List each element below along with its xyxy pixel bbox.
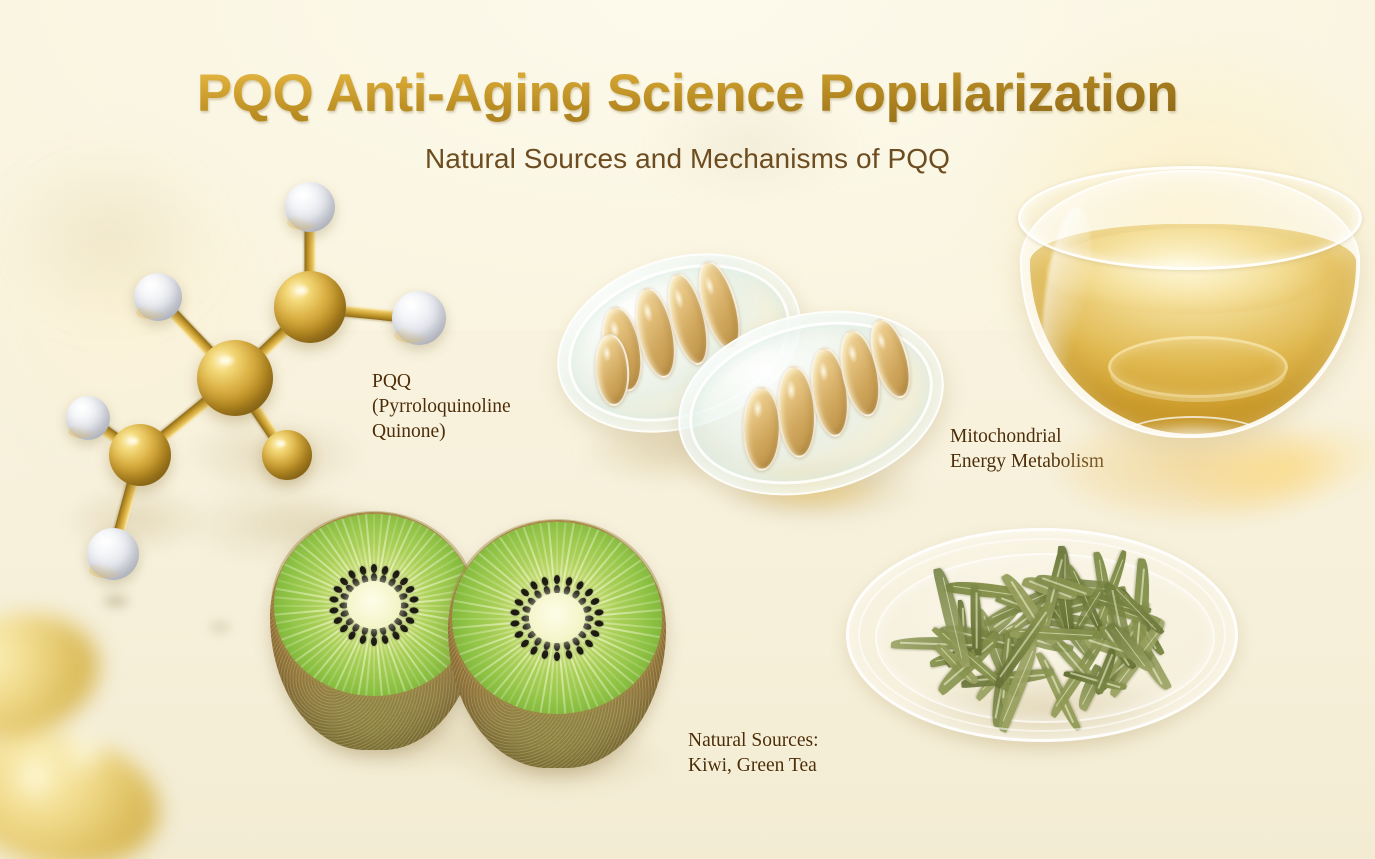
green-tea-bowl bbox=[1012, 160, 1375, 490]
kiwi-seed bbox=[371, 564, 377, 573]
capsule-highlight bbox=[10, 756, 60, 806]
kiwi-half-left bbox=[270, 512, 478, 750]
molecule-atom-pearl bbox=[66, 396, 110, 440]
molecule-atom-pearl bbox=[134, 273, 182, 321]
kiwi-seed bbox=[371, 637, 377, 646]
kiwi-seed bbox=[371, 628, 377, 637]
kiwi-seed bbox=[554, 652, 560, 661]
label-natural-sources: Natural Sources: Kiwi, Green Tea bbox=[688, 729, 819, 779]
molecule-atom-gold bbox=[274, 271, 346, 343]
molecule-atom-gold bbox=[262, 430, 312, 480]
foreground-blur-dot bbox=[92, 588, 140, 614]
label-pqq-molecule: PQQ (Pyrroloquinoline Quinone) bbox=[372, 370, 511, 444]
kiwi-flesh bbox=[274, 514, 474, 696]
kiwi-seed bbox=[584, 615, 593, 621]
kiwi-seed bbox=[409, 606, 419, 613]
poster-canvas: PQQ Anti-Aging Science Popularization PQ… bbox=[0, 0, 1375, 859]
dish-rim bbox=[858, 538, 1226, 732]
molecule-atom-pearl bbox=[87, 528, 139, 580]
molecule-atom-pearl bbox=[392, 291, 446, 345]
molecule-atom-pearl bbox=[285, 182, 335, 232]
molecule-atom-gold bbox=[197, 340, 273, 416]
page-title: PQQ Anti-Aging Science Popularization bbox=[0, 63, 1375, 124]
crista bbox=[743, 387, 781, 471]
foreground-blur-dot bbox=[200, 616, 240, 638]
softgel-capsules bbox=[0, 596, 230, 859]
capsule-highlight bbox=[50, 716, 120, 786]
tea-inner-ring bbox=[1108, 336, 1288, 398]
green-tea-leaf-dish bbox=[846, 528, 1238, 774]
kiwi-core bbox=[347, 581, 401, 629]
kiwi-seed bbox=[554, 575, 560, 584]
bowl-rim bbox=[1018, 166, 1362, 270]
kiwi-fruit-halves bbox=[252, 498, 704, 798]
molecule-atom-gold bbox=[109, 424, 171, 486]
kiwi-flesh bbox=[452, 522, 662, 714]
kiwi-core bbox=[529, 593, 585, 643]
mitochondria-illustration bbox=[552, 258, 952, 498]
kiwi-half-right bbox=[448, 520, 666, 768]
